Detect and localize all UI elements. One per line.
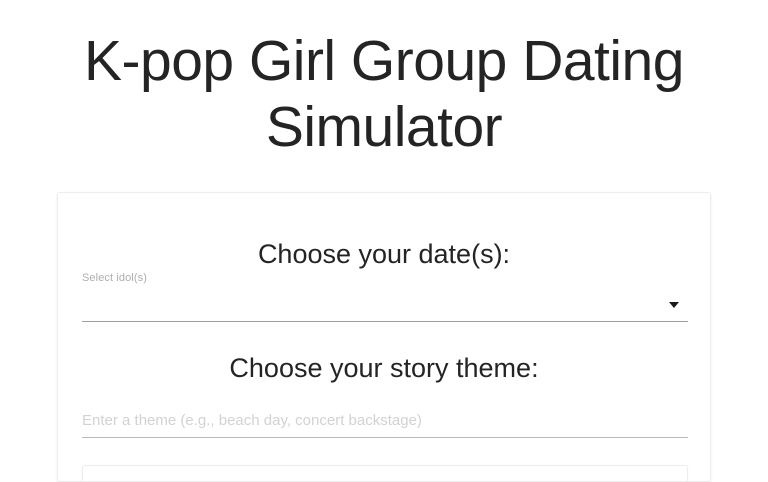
theme-input-field bbox=[82, 404, 688, 438]
idol-select-field: Select idol(s) bbox=[82, 272, 688, 322]
simulator-card: Choose your date(s): Select idol(s) Choo… bbox=[57, 192, 711, 482]
dates-section-heading: Choose your date(s): bbox=[58, 238, 710, 270]
theme-section-heading: Choose your story theme: bbox=[58, 352, 710, 384]
card-inner: Choose your date(s): Select idol(s) Choo… bbox=[58, 193, 710, 481]
idol-select-label: Select idol(s) bbox=[82, 272, 688, 285]
theme-input[interactable] bbox=[82, 404, 688, 438]
idol-select-control[interactable] bbox=[82, 285, 688, 322]
chevron-down-icon[interactable] bbox=[669, 302, 679, 308]
app-root: K-pop Girl Group Dating Simulator Choose… bbox=[0, 0, 768, 480]
page-title: K-pop Girl Group Dating Simulator bbox=[0, 0, 768, 160]
story-output-box bbox=[82, 465, 688, 482]
